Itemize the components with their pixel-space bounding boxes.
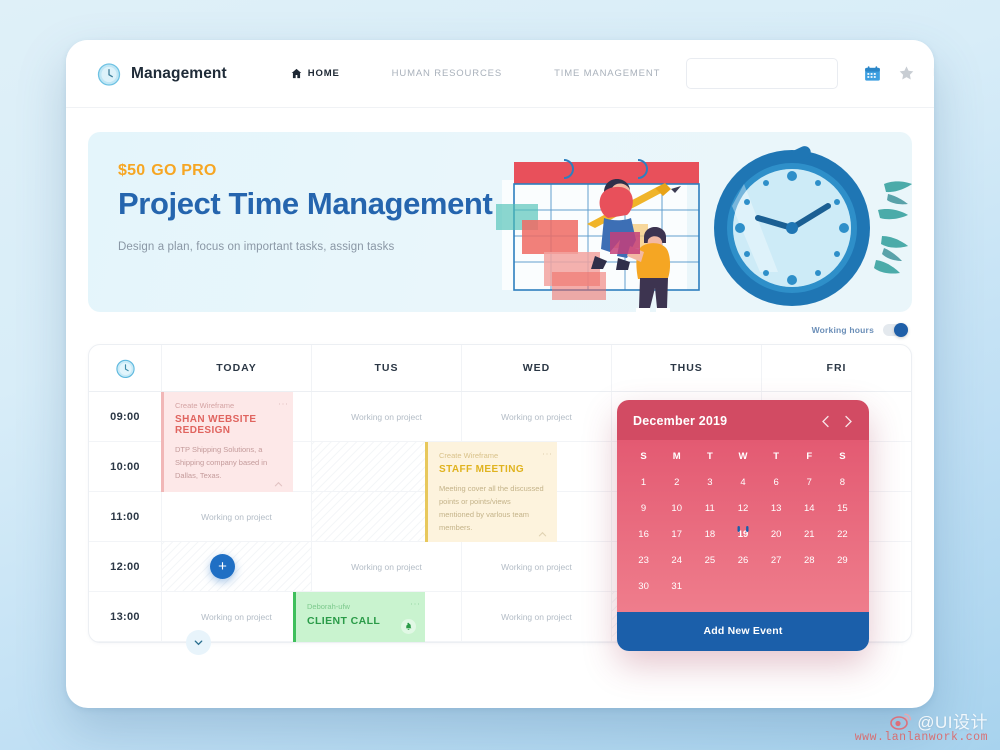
hero-section: $50GO PRO Project Time Management Design… [66,108,934,312]
schedule-cell[interactable]: Working on project [311,542,461,591]
date-cell[interactable]: 31 [660,574,693,600]
date-cell[interactable]: 14 [793,496,826,522]
date-picker-week: 16 17 18 19 20 21 22 [627,522,859,548]
hero-banner: $50GO PRO Project Time Management Design… [88,132,912,312]
clock-icon [96,61,122,87]
hero-title: Project Time Management [118,187,492,221]
date-cell[interactable]: 20 [760,522,793,548]
date-cell-selected[interactable]: 19 [726,522,759,548]
watermark: @UI设计 www.lanlanwork.com [855,708,988,744]
schedule-header-row: TODAY TUS WED THUS FRI [89,345,911,392]
hero-subtitle: Design a plan, focus on important tasks,… [118,241,492,253]
date-picker-week: 1 2 3 4 6 7 8 [627,470,859,496]
hero-pro-label: GO PRO [151,162,216,179]
more-vertical-icon[interactable]: ⋮ [543,449,549,459]
add-new-event-button[interactable]: Add New Event [617,612,869,651]
date-cell[interactable]: 24 [660,548,693,574]
date-cell[interactable]: 13 [760,496,793,522]
schedule-cell[interactable]: Working on project [161,492,311,541]
date-cell[interactable]: 2 [660,470,693,496]
date-cell[interactable]: 3 [693,470,726,496]
event-title: CLIENT CALL [307,615,415,627]
schedule-col-tus[interactable]: TUS [311,345,461,391]
date-cell[interactable]: 29 [826,548,859,574]
more-vertical-icon[interactable]: ⋮ [279,399,285,409]
working-hours-label: Working hours [812,325,874,335]
date-cell[interactable]: 18 [693,522,726,548]
nav-link-human-resources[interactable]: HUMAN RESOURCES [366,62,528,85]
calendar-day-icon [734,518,751,525]
nav-link-home[interactable]: HOME [265,62,366,85]
date-cell[interactable]: 25 [693,548,726,574]
date-cell[interactable]: 8 [826,470,859,496]
star-icon[interactable] [898,65,915,82]
date-cell [693,574,726,600]
hero-text: $50GO PRO Project Time Management Design… [118,162,492,253]
event-description: DTP Shipping Solutions, a Shipping compa… [175,443,283,482]
chevron-up-icon[interactable] [274,476,283,485]
brand[interactable]: Management [96,61,227,87]
date-picker-header: December 2019 [617,400,869,440]
date-picker-week: 30 31 [627,574,859,600]
bell-icon[interactable] [401,619,416,634]
working-hours-row: Working hours [66,312,934,344]
dow-mon: M [660,440,693,470]
date-cell [760,574,793,600]
schedule-cell[interactable]: Working on project [461,542,611,591]
time-label: 13:00 [89,592,161,641]
date-picker-body: S M T W T F S 1 2 3 4 6 7 8 9 10 11 12 1… [617,440,869,612]
date-picker-navs [821,415,853,428]
date-cell[interactable]: 27 [760,548,793,574]
time-label: 12:00 [89,542,161,591]
event-meta: Create Wireframe [439,451,547,460]
dow-sat: S [826,440,859,470]
date-cell[interactable]: 6 [760,470,793,496]
hero-illustration [492,132,912,312]
schedule-col-wed[interactable]: WED [461,345,611,391]
home-icon [291,68,302,79]
date-cell[interactable]: 23 [627,548,660,574]
time-label: 09:00 [89,392,161,441]
dow-tue: T [693,440,726,470]
event-title: SHAN WEBSITE REDESIGN [175,414,283,436]
chevron-down-icon [193,637,204,648]
date-cell[interactable]: 28 [793,548,826,574]
event-title: STAFF MEETING [439,464,547,475]
hero-kicker: $50GO PRO [118,162,492,180]
date-picker-week: 23 24 25 26 27 28 29 [627,548,859,574]
date-cell[interactable]: 22 [826,522,859,548]
schedule-cell-unavailable[interactable] [161,542,311,591]
date-cell[interactable]: 26 [726,548,759,574]
date-picker: December 2019 S M T W T F S 1 2 3 4 6 7 [617,400,869,651]
expand-schedule-button[interactable] [186,630,211,655]
working-hours-toggle[interactable] [883,324,908,336]
watermark-handle-row: @UI设计 [890,708,988,733]
date-cell[interactable]: 16 [627,522,660,548]
date-cell[interactable]: 7 [793,470,826,496]
schedule-cell[interactable]: Working on project [311,392,461,441]
watermark-handle: @UI设计 [917,708,988,733]
event-meta: Deborah-ufw [307,602,415,611]
time-label: 11:00 [89,492,161,541]
watermark-url: www.lanlanwork.com [855,731,988,744]
date-cell[interactable]: 21 [793,522,826,548]
chevron-up-icon[interactable] [538,526,547,535]
chat-bubble-icon[interactable] [932,65,934,82]
schedule-col-thus[interactable]: THUS [611,345,761,391]
more-vertical-icon[interactable]: ⋮ [411,599,417,609]
date-cell[interactable]: 11 [693,496,726,522]
nav-links: HOME HUMAN RESOURCES TIME MANAGEMENT [265,62,686,85]
date-cell[interactable]: 9 [627,496,660,522]
chevron-left-icon[interactable] [821,415,830,428]
event-card-staff-meeting[interactable]: ⋮ Create Wireframe STAFF MEETING Meeting… [425,442,557,542]
chevron-right-icon[interactable] [844,415,853,428]
event-description: Meeting cover all the discussed points o… [439,482,547,535]
search-box[interactable] [686,58,838,89]
event-card-client-call[interactable]: ⋮ Deborah-ufw CLIENT CALL [293,592,425,642]
toggle-knob [894,323,908,337]
calendar-icon[interactable] [864,65,881,82]
schedule-clock-cell [89,345,161,391]
date-cell [826,574,859,600]
nav-link-time-management[interactable]: TIME MANAGEMENT [528,62,686,85]
time-label: 10:00 [89,442,161,491]
date-cell[interactable]: 17 [660,522,693,548]
date-cell[interactable]: 1 [627,470,660,496]
hero-price: $50 [118,162,145,179]
weibo-icon [890,712,912,730]
schedule-cell[interactable]: Working on project [161,592,311,641]
clock-icon [115,358,136,379]
event-card-shan-website-redesign[interactable]: ⋮ Create Wireframe SHAN WEBSITE REDESIGN… [161,392,293,492]
dow-wed: W [726,440,759,470]
dow-fri: F [793,440,826,470]
navbar-actions [686,58,934,89]
schedule-col-fri[interactable]: FRI [761,345,911,391]
date-cell[interactable]: 30 [627,574,660,600]
date-cell[interactable]: 4 [726,470,759,496]
date-cell [793,574,826,600]
navbar: Management HOME HUMAN RESOURCES TIME MAN… [66,40,934,108]
event-meta: Create Wireframe [175,401,283,410]
date-picker-month-label: December 2019 [633,414,727,428]
date-cell[interactable]: 15 [826,496,859,522]
date-picker-dow-row: S M T W T F S [627,440,859,470]
dow-sun: S [627,440,660,470]
search-input[interactable] [698,68,830,79]
schedule-cell[interactable]: Working on project [461,392,611,441]
date-cell[interactable]: 10 [660,496,693,522]
date-cell [726,574,759,600]
dow-thu: T [760,440,793,470]
schedule-col-today[interactable]: TODAY [161,345,311,391]
brand-name: Management [131,65,227,83]
nav-link-home-label: HOME [308,68,340,79]
schedule-cell[interactable]: Working on project [461,592,611,641]
